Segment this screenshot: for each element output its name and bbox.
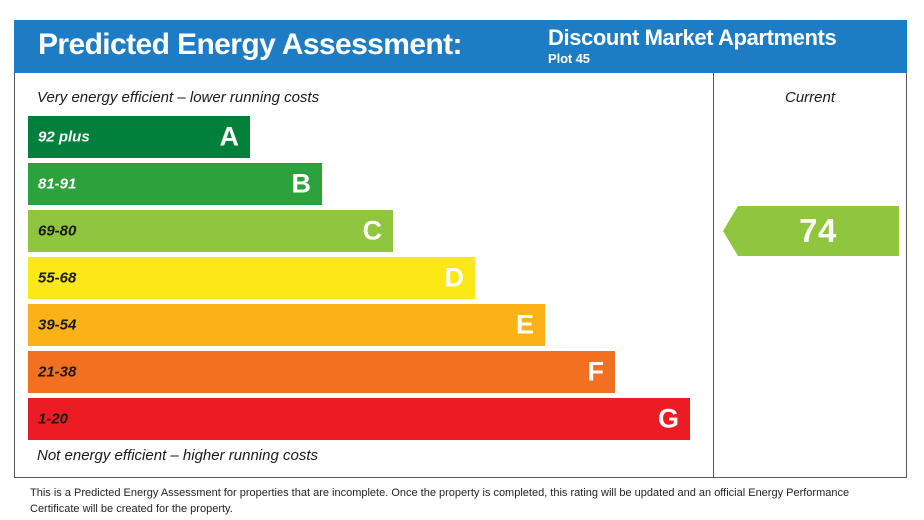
disclaimer-text: This is a Predicted Energy Assessment fo… <box>30 486 898 518</box>
rating-bar-c: 69-80C <box>28 210 393 252</box>
current-rating-value: 74 <box>785 212 837 250</box>
rating-bar-f: 21-38F <box>28 351 615 393</box>
energy-rating-chart: Very energy efficient – lower running co… <box>14 73 907 478</box>
rating-bar-letter-b: B <box>292 171 312 198</box>
rating-bar-e: 39-54E <box>28 304 545 346</box>
rating-bar-letter-d: D <box>445 265 465 292</box>
page-title: Predicted Energy Assessment: <box>38 28 462 62</box>
certificate-header: Predicted Energy Assessment: Discount Ma… <box>14 20 907 73</box>
rating-bar-range-c: 69-80 <box>38 223 76 240</box>
rating-bar-a: 92 plusA <box>28 116 250 158</box>
rating-bar-letter-a: A <box>220 124 240 151</box>
current-rating-arrow: 74 <box>723 206 899 256</box>
rating-bar-g: 1-20G <box>28 398 690 440</box>
rating-bar-range-f: 21-38 <box>38 364 76 381</box>
rating-bar-range-g: 1-20 <box>38 411 68 428</box>
rating-bar-letter-c: C <box>363 218 383 245</box>
rating-bar-range-e: 39-54 <box>38 317 76 334</box>
rating-bar-range-a: 92 plus <box>38 129 90 146</box>
predicted-energy-assessment-certificate: Predicted Energy Assessment: Discount Ma… <box>0 0 924 520</box>
rating-bar-letter-g: G <box>658 406 679 433</box>
property-name: Discount Market Apartments <box>548 25 836 51</box>
property-plot: Plot 45 <box>548 51 590 66</box>
efficiency-caption-top: Very energy efficient – lower running co… <box>37 89 319 106</box>
rating-bar-b: 81-91B <box>28 163 322 205</box>
current-column-header: Current <box>713 89 907 106</box>
rating-bar-letter-f: F <box>588 359 605 386</box>
rating-bar-range-b: 81-91 <box>38 176 76 193</box>
rating-bar-d: 55-68D <box>28 257 475 299</box>
rating-bar-range-d: 55-68 <box>38 270 76 287</box>
efficiency-caption-bottom: Not energy efficient – higher running co… <box>37 447 318 464</box>
column-divider <box>713 73 714 478</box>
rating-bar-letter-e: E <box>516 312 534 339</box>
